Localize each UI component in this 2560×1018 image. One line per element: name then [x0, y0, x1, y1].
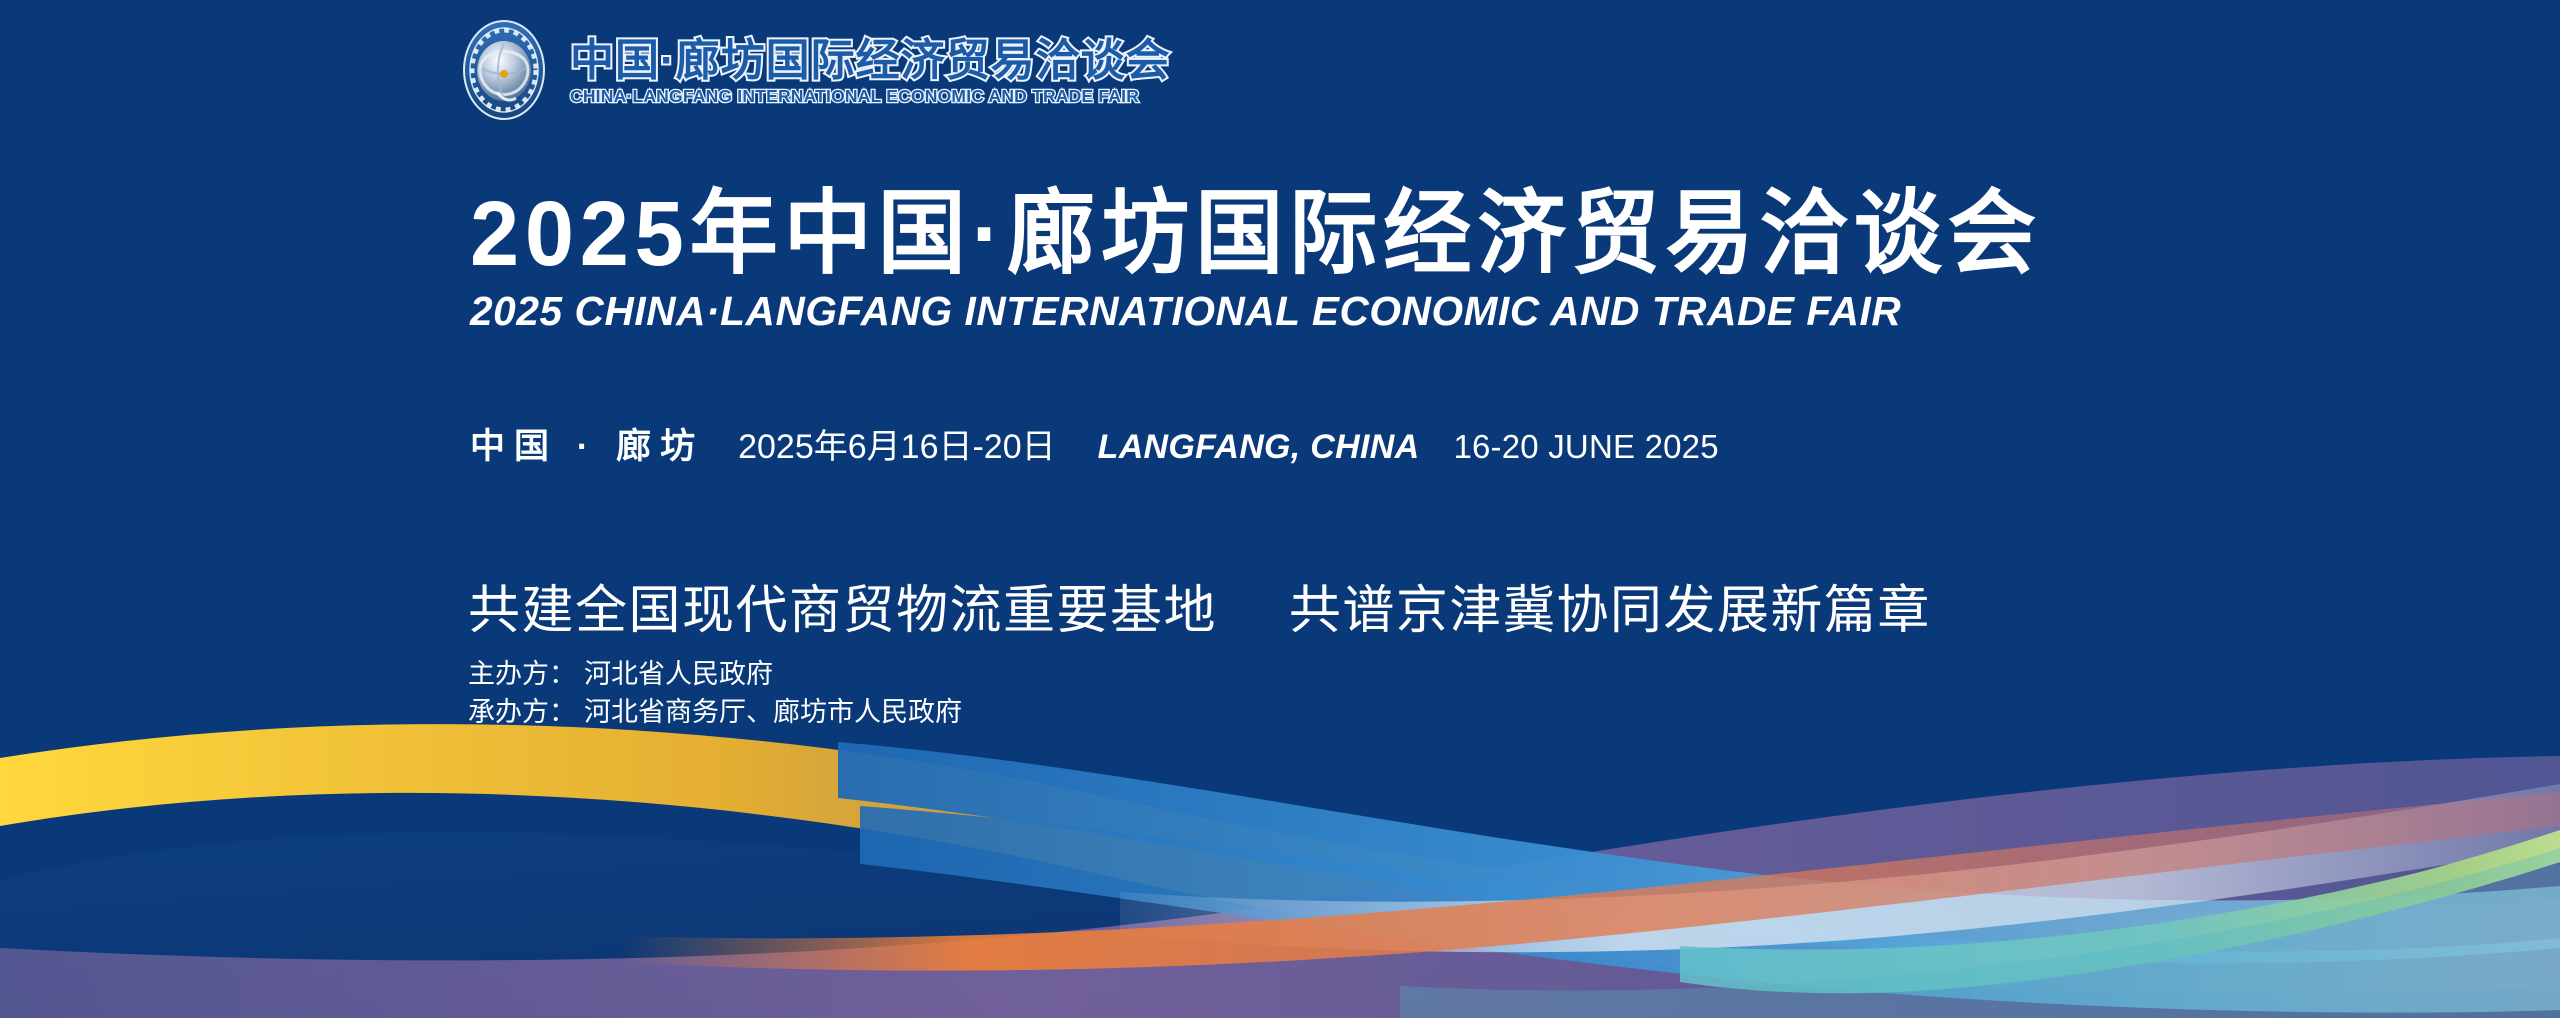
organizer-block: 主办方： 河北省人民政府 承办方： 河北省商务厅、廊坊市人民政府	[468, 655, 962, 732]
event-banner: 中国·廊坊国际经济贸易洽谈会 CHINA·LANGFANG INTERNATIO…	[0, 0, 2560, 1018]
slogan: 共建全国现代商贸物流重要基地 共谱京津冀协同发展新篇章	[468, 568, 1931, 643]
date-location-row: 中国 · 廊坊 2025年6月16日-20日 LANGFANG, CHINA 1…	[470, 418, 1719, 469]
date-en: 16-20 JUNE 2025	[1453, 428, 1718, 466]
globe-emblem-icon	[452, 18, 556, 122]
organizer-label: 主办方：	[468, 655, 576, 693]
page-title-cn: 2025年中国·廊坊国际经济贸易洽谈会	[470, 185, 2102, 284]
organizer-label: 承办方：	[468, 693, 576, 731]
location-en: LANGFANG, CHINA	[1098, 428, 1420, 467]
decorative-wave-background	[0, 0, 2560, 1018]
slogan-part-2: 共谱京津冀协同发展新篇章	[1289, 582, 1931, 640]
organizer-row: 承办方： 河北省商务厅、廊坊市人民政府	[468, 693, 962, 731]
logo-wordmark: 中国·廊坊国际经济贸易洽谈会 CHINA·LANGFANG INTERNATIO…	[570, 39, 1171, 106]
event-logo: 中国·廊坊国际经济贸易洽谈会 CHINA·LANGFANG INTERNATIO…	[452, 18, 1171, 122]
headline-block: 2025年中国·廊坊国际经济贸易洽谈会 2025 CHINA·LANGFANG …	[470, 185, 2170, 333]
organizer-value: 河北省人民政府	[584, 655, 773, 693]
date-cn: 2025年6月16日-20日	[738, 419, 1056, 468]
organizer-value: 河北省商务厅、廊坊市人民政府	[584, 693, 962, 731]
logo-wordmark-en: CHINA·LANGFANG INTERNATIONAL ECONOMIC AN…	[570, 88, 1171, 106]
logo-wordmark-cn: 中国·廊坊国际经济贸易洽谈会	[570, 39, 1171, 83]
location-cn: 中国 · 廊坊	[470, 418, 704, 469]
page-title-en: 2025 CHINA·LANGFANG INTERNATIONAL ECONOM…	[470, 290, 2153, 333]
slogan-part-1: 共建全国现代商贸物流重要基地	[468, 582, 1217, 640]
organizer-row: 主办方： 河北省人民政府	[468, 655, 962, 693]
